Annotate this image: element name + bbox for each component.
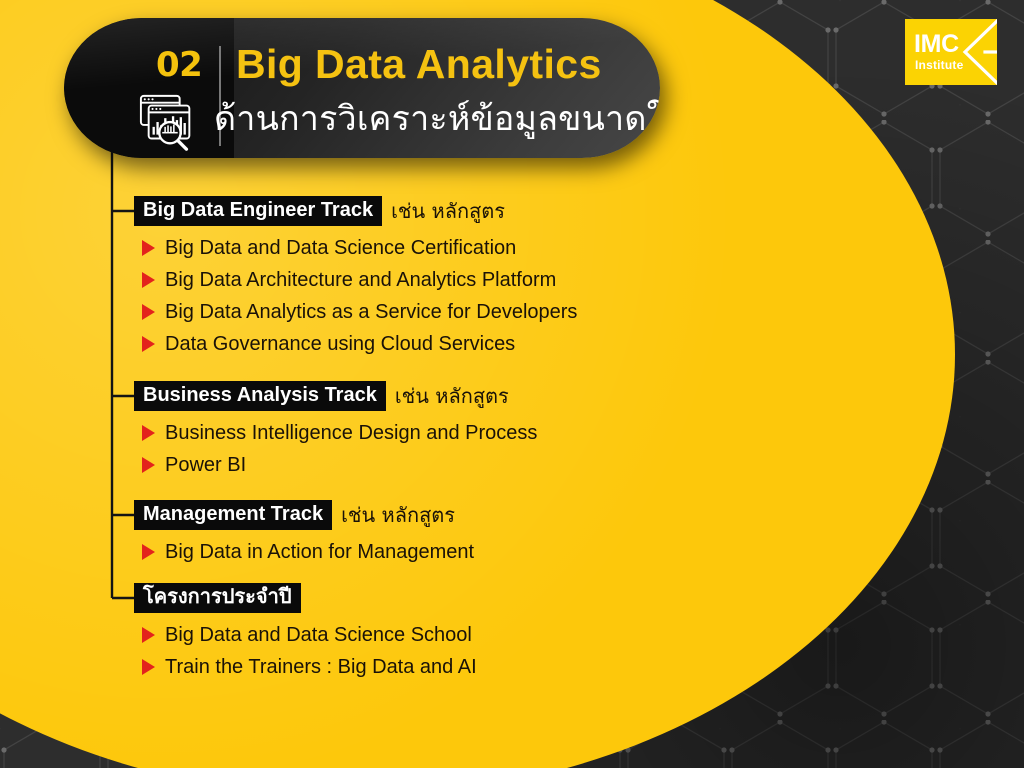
section-bullet-list: Big Data and Data Science School Train t…: [134, 619, 477, 683]
triangle-bullet-icon: [142, 544, 155, 560]
section-header-row: Big Data Engineer Track เช่น หลักสูตร: [134, 196, 577, 226]
list-item-label: Big Data Analytics as a Service for Deve…: [165, 302, 577, 322]
list-item: Big Data Architecture and Analytics Plat…: [134, 264, 577, 296]
list-item-label: Power BI: [165, 455, 246, 475]
triangle-bullet-icon: [142, 240, 155, 256]
section-header-chip: Management Track: [134, 500, 332, 530]
list-item: Power BI: [134, 449, 537, 481]
section-big-data-engineer-track: Big Data Engineer Track เช่น หลักสูตร Bi…: [134, 196, 577, 360]
triangle-bullet-icon: [142, 336, 155, 352]
chevron-angle-mark-icon: [957, 19, 997, 85]
slide-number: 02: [156, 48, 202, 82]
triangle-bullet-icon: [142, 457, 155, 473]
section-header-chip: Business Analysis Track: [134, 381, 386, 411]
section-header-chip: Big Data Engineer Track: [134, 196, 382, 226]
list-item-label: Business Intelligence Design and Process: [165, 423, 537, 443]
section-bullet-list: Business Intelligence Design and Process…: [134, 417, 537, 481]
section-bullet-list: Big Data in Action for Management: [134, 536, 474, 568]
list-item-label: Big Data Architecture and Analytics Plat…: [165, 270, 556, 290]
list-item: Big Data in Action for Management: [134, 536, 474, 568]
list-item: Big Data and Data Science School: [134, 619, 477, 651]
list-item-label: Train the Trainers : Big Data and AI: [165, 657, 477, 677]
section-business-analysis-track: Business Analysis Track เช่น หลักสูตร Bu…: [134, 381, 537, 481]
section-management-track: Management Track เช่น หลักสูตร Big Data …: [134, 500, 474, 568]
section-header-chip: โครงการประจำปี: [134, 583, 301, 613]
section-header-row: Business Analysis Track เช่น หลักสูตร: [134, 381, 537, 411]
triangle-bullet-icon: [142, 272, 155, 288]
section-header-suffix: เช่น หลักสูตร: [341, 505, 455, 525]
list-item: Business Intelligence Design and Process: [134, 417, 537, 449]
triangle-bullet-icon: [142, 304, 155, 320]
list-item-label: Big Data in Action for Management: [165, 542, 474, 562]
list-item: Big Data and Data Science Certification: [134, 232, 577, 264]
imc-institute-logo: IMC Institute: [905, 19, 997, 85]
list-item-label: Big Data and Data Science Certification: [165, 238, 516, 258]
section-header-row: Management Track เช่น หลักสูตร: [134, 500, 474, 530]
triangle-bullet-icon: [142, 425, 155, 441]
triangle-bullet-icon: [142, 659, 155, 675]
list-item: Big Data Analytics as a Service for Deve…: [134, 296, 577, 328]
list-item-label: Big Data and Data Science School: [165, 625, 472, 645]
section-header-suffix: เช่น หลักสูตร: [391, 201, 505, 221]
triangle-bullet-icon: [142, 627, 155, 643]
window-bar-chart-magnifier-icon: [138, 92, 200, 154]
section-annual-program: โครงการประจำปี Big Data and Data Science…: [134, 583, 477, 683]
list-item: Train the Trainers : Big Data and AI: [134, 651, 477, 683]
section-bullet-list: Big Data and Data Science Certification …: [134, 232, 577, 360]
page-title-th: ด้านการวิเคราะห์ข้อมูลขนาดใหญ่: [214, 102, 660, 136]
slide-canvas: 02: [0, 0, 1024, 768]
section-header-suffix: เช่น หลักสูตร: [395, 386, 509, 406]
list-item: Data Governance using Cloud Services: [134, 328, 577, 360]
slide-title-badge: 02: [64, 18, 660, 158]
list-item-label: Data Governance using Cloud Services: [165, 334, 515, 354]
section-header-row: โครงการประจำปี: [134, 583, 477, 613]
logo-name: IMC: [914, 32, 959, 57]
page-title-en: Big Data Analytics: [236, 44, 602, 85]
